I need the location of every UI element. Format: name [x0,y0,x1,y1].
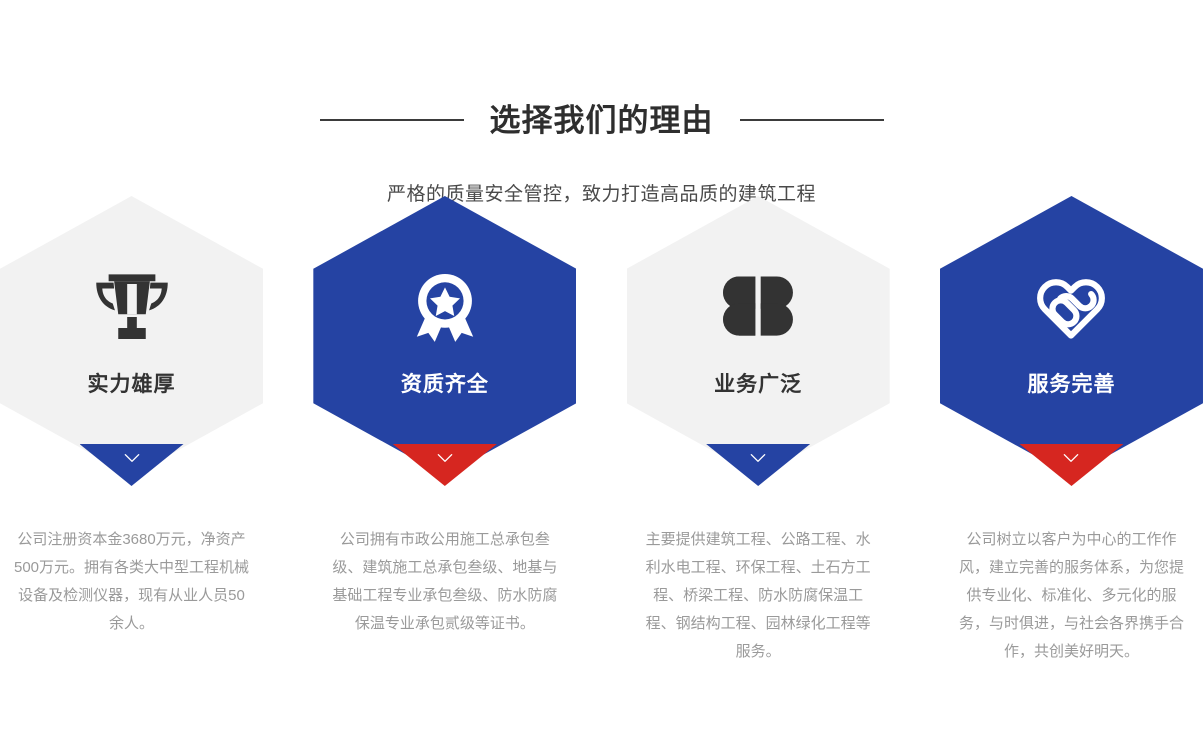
hexagon-shape: 业务广泛 [627,196,890,476]
card-description: 公司拥有市政公用施工总承包叁级、建筑施工总承包叁级、地基与基础工程专业承包叁级、… [327,526,563,638]
feature-card-business-scope[interactable]: 业务广泛 主要提供建筑工程、公路工程、水利水电工程、环保工程、土石方工程、桥梁工… [627,196,890,666]
card-arrow[interactable] [1019,444,1123,486]
section-title-row: 选择我们的理由 [0,84,1203,157]
title-rule-right [740,119,884,121]
trophy-icon [86,260,178,352]
card-arrow[interactable] [80,444,184,486]
hexagon-shape: 实力雄厚 [0,196,263,476]
card-arrow[interactable] [706,444,810,486]
feature-card-service[interactable]: 服务完善 公司树立以客户为中心的工作作风，建立完善的服务体系，为您提供专业化、标… [940,196,1203,666]
hexagon-shape: 服务完善 [940,196,1203,476]
hexagon-shape: 资质齐全 [313,196,576,476]
card-description: 公司注册资本金3680万元，净资产500万元。拥有各类大中型工程机械设备及检测仪… [14,526,250,638]
card-title: 服务完善 [1027,368,1115,398]
card-arrow[interactable] [393,444,497,486]
chevron-down-icon [1062,453,1080,463]
feature-card-qualification[interactable]: 资质齐全 公司拥有市政公用施工总承包叁级、建筑施工总承包叁级、地基与基础工程专业… [313,196,576,666]
feature-card-strength[interactable]: 实力雄厚 公司注册资本金3680万元，净资产500万元。拥有各类大中型工程机械设… [0,196,263,666]
chevron-down-icon [749,453,767,463]
linked-hearts-handshake-icon [1025,260,1117,352]
page-title: 选择我们的理由 [490,105,714,136]
chevron-down-icon [123,453,141,463]
card-description: 公司树立以客户为中心的工作作风，建立完善的服务体系，为您提供专业化、标准化、多元… [953,526,1189,666]
card-title: 实力雄厚 [88,368,176,398]
card-title: 资质齐全 [401,368,489,398]
hexagon-wrapper: 实力雄厚 [0,196,263,496]
section-header: 选择我们的理由 严格的质量安全管控，致力打造高品质的建筑工程 [0,0,1203,206]
card-title: 业务广泛 [714,368,802,398]
chevron-down-icon [436,453,454,463]
feature-card-list: 实力雄厚 公司注册资本金3680万元，净资产500万元。拥有各类大中型工程机械设… [0,196,1203,666]
award-medal-icon [399,260,491,352]
hexagon-wrapper: 资质齐全 [313,196,576,496]
hexagon-wrapper: 业务广泛 [627,196,890,496]
title-rule-left [320,119,464,121]
card-description: 主要提供建筑工程、公路工程、水利水电工程、环保工程、土石方工程、桥梁工程、防水防… [640,526,876,666]
hexagon-wrapper: 服务完善 [940,196,1203,496]
four-petal-clover-icon [712,260,804,352]
